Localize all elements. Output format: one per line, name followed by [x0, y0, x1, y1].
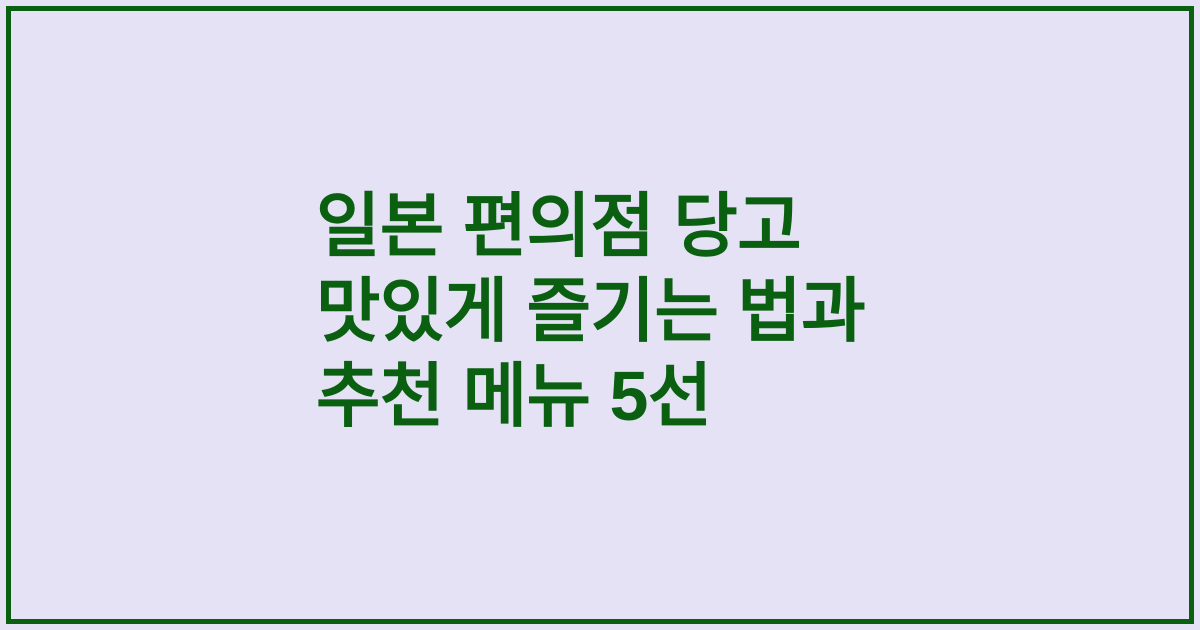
title-line-3: 추천 메뉴 5선 — [316, 354, 1149, 439]
page-title: 일본 편의점 당고 맛있게 즐기는 법과 추천 메뉴 5선 — [11, 184, 1189, 439]
thumbnail-card: 일본 편의점 당고 맛있게 즐기는 법과 추천 메뉴 5선 — [0, 0, 1200, 630]
title-line-1: 일본 편의점 당고 — [316, 184, 1149, 269]
card-border-frame: 일본 편의점 당고 맛있게 즐기는 법과 추천 메뉴 5선 — [6, 6, 1194, 624]
title-line-2: 맛있게 즐기는 법과 — [316, 269, 1149, 354]
